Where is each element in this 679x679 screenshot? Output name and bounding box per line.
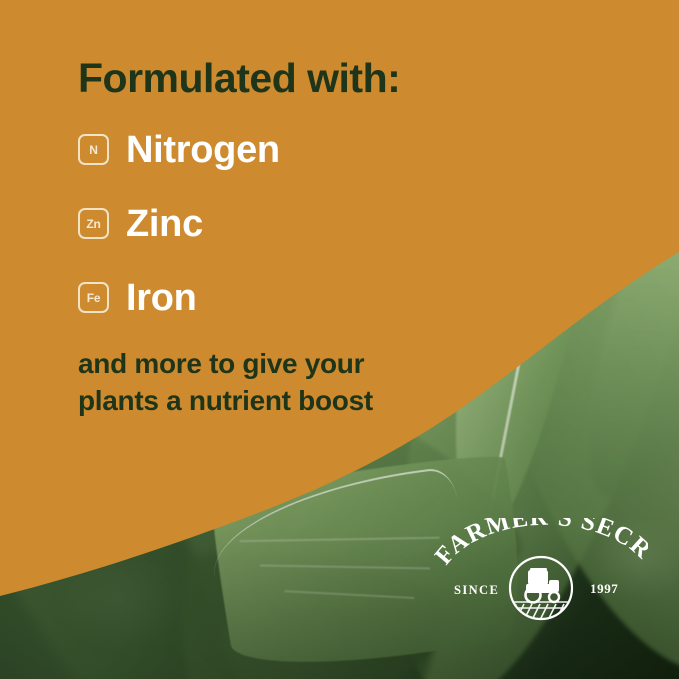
tagline: and more to give your plants a nutrient … bbox=[78, 346, 498, 420]
tractor-emblem-icon bbox=[508, 557, 574, 620]
nutrient-label-nitrogen: Nitrogen bbox=[126, 131, 280, 169]
nutrient-list: N Nitrogen Zn Zinc Fe Iron bbox=[78, 124, 679, 324]
product-feature-card: Formulated with: N Nitrogen Zn Zinc Fe I… bbox=[0, 0, 679, 679]
nutrient-label-zinc: Zinc bbox=[126, 205, 203, 243]
copy-block: Formulated with: N Nitrogen Zn Zinc Fe I… bbox=[0, 0, 679, 480]
element-symbol-badge-zn: Zn bbox=[78, 208, 109, 239]
list-item-zinc: Zn Zinc bbox=[78, 198, 679, 250]
brand-wordmark: FARMER'S SECRET bbox=[434, 518, 648, 570]
element-symbol-badge-fe: Fe bbox=[78, 282, 109, 313]
brand-logo: FARMER'S SECRET SINCE 1997 bbox=[434, 518, 648, 630]
page-title: Formulated with: bbox=[78, 56, 679, 102]
tagline-line-2: plants a nutrient boost bbox=[78, 383, 498, 420]
tagline-line-1: and more to give your bbox=[78, 346, 498, 383]
since-label: SINCE bbox=[454, 583, 499, 597]
nutrient-label-iron: Iron bbox=[126, 279, 197, 317]
since-year: 1997 bbox=[590, 581, 618, 596]
list-item-iron: Fe Iron bbox=[78, 272, 679, 324]
list-item-nitrogen: N Nitrogen bbox=[78, 124, 679, 176]
element-symbol-badge-n: N bbox=[78, 134, 109, 165]
